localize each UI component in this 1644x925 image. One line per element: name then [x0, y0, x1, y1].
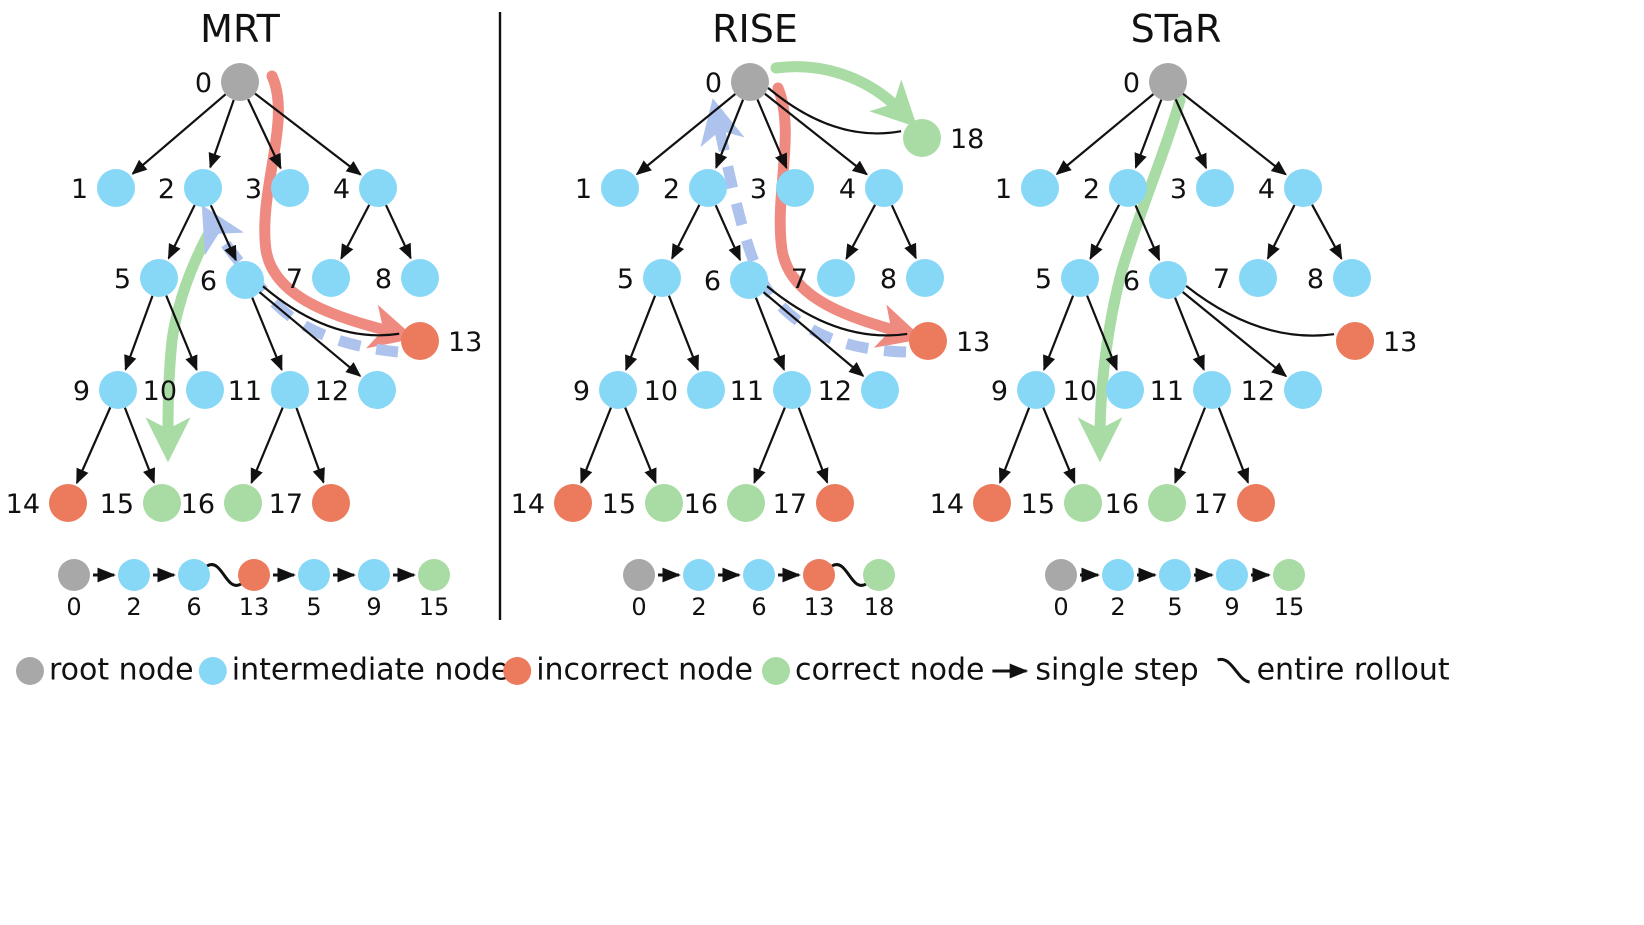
seq-node-circle-correct[interactable] — [863, 559, 895, 591]
node-mrt-7[interactable]: 7 — [286, 259, 350, 297]
node-label-10: 10 — [644, 376, 678, 407]
panel-title-star: STaR — [1131, 7, 1222, 51]
seq-node-mrt-6[interactable]: 6 — [178, 559, 210, 621]
node-star-0[interactable]: 0 — [1123, 63, 1187, 101]
node-rise-11[interactable]: 11 — [730, 371, 811, 409]
node-circle-intermediate[interactable] — [271, 371, 309, 409]
node-circle-correct[interactable] — [727, 484, 765, 522]
legend-label: correct node — [795, 653, 984, 688]
node-label-9: 9 — [73, 376, 90, 407]
seq-node-label-5: 5 — [306, 593, 321, 621]
node-circle-intermediate[interactable] — [1284, 371, 1322, 409]
rise-rollouts — [718, 67, 906, 352]
seq-node-circle-intermediate[interactable] — [683, 559, 715, 591]
panel-title-mrt: MRT — [200, 7, 280, 51]
legend-item-entire-rollout: entire rollout — [1218, 653, 1450, 688]
node-label-10: 10 — [143, 376, 177, 407]
node-circle-intermediate[interactable] — [817, 259, 855, 297]
node-circle-intermediate[interactable] — [186, 371, 224, 409]
edge-2-5 — [1090, 205, 1119, 259]
edge-0-2 — [210, 100, 233, 167]
panel-title-rise: RISE — [712, 7, 798, 51]
seq-node-circle-root[interactable] — [58, 559, 90, 591]
node-mrt-16[interactable]: 16 — [181, 484, 262, 522]
node-circle-root[interactable] — [221, 63, 259, 101]
node-mrt-12[interactable]: 12 — [315, 371, 396, 409]
node-circle-intermediate[interactable] — [773, 371, 811, 409]
legend-label: entire rollout — [1257, 653, 1450, 688]
node-mrt-15[interactable]: 15 — [100, 484, 181, 522]
edge-4-8 — [892, 205, 916, 258]
seq-node-circle-intermediate[interactable] — [1159, 559, 1191, 591]
node-star-11[interactable]: 11 — [1150, 371, 1231, 409]
sequence-star: 025915 — [1045, 559, 1305, 621]
node-circle-intermediate[interactable] — [601, 169, 639, 207]
node-label-2: 2 — [663, 174, 680, 205]
seq-node-star-5[interactable]: 5 — [1159, 559, 1191, 621]
seq-node-rise-13[interactable]: 13 — [803, 559, 835, 621]
node-label-17: 17 — [773, 489, 807, 520]
seq-node-star-15[interactable]: 15 — [1273, 559, 1305, 621]
seq-node-circle-intermediate[interactable] — [118, 559, 150, 591]
node-label-4: 4 — [1258, 174, 1275, 205]
seq-entire-rollout-mrt-2 — [207, 565, 241, 586]
node-circle-intermediate[interactable] — [643, 259, 681, 297]
node-label-2: 2 — [158, 174, 175, 205]
node-circle-correct[interactable] — [903, 119, 941, 157]
edge-0-4 — [1183, 94, 1286, 175]
node-star-4[interactable]: 4 — [1258, 169, 1322, 207]
edge-2-5 — [169, 205, 195, 258]
node-label-8: 8 — [1307, 264, 1324, 295]
node-rise-10[interactable]: 10 — [644, 371, 725, 409]
node-mrt-13[interactable]: 13 — [401, 322, 482, 360]
node-rise-12[interactable]: 12 — [818, 371, 899, 409]
node-rise-0[interactable]: 0 — [705, 63, 769, 101]
node-circle-incorrect[interactable] — [1237, 484, 1275, 522]
node-circle-intermediate[interactable] — [1284, 169, 1322, 207]
node-rise-7[interactable]: 7 — [791, 259, 855, 297]
node-circle-incorrect[interactable] — [973, 484, 1011, 522]
legend-label: single step — [1035, 653, 1198, 688]
node-mrt-17[interactable]: 17 — [269, 484, 350, 522]
seq-node-circle-root[interactable] — [1045, 559, 1077, 591]
node-star-15[interactable]: 15 — [1021, 484, 1102, 522]
node-circle-intermediate[interactable] — [1196, 169, 1234, 207]
edge-4-7 — [341, 205, 369, 259]
edge-9-15 — [625, 408, 656, 483]
seq-node-label-0: 0 — [631, 593, 646, 621]
node-mrt-6[interactable]: 6 — [200, 261, 264, 299]
node-label-16: 16 — [684, 489, 718, 520]
tree-rise: 0181234567813910111214151617 — [511, 63, 991, 522]
legend: root nodeintermediate nodeincorrect node… — [16, 653, 1450, 688]
node-circle-intermediate[interactable] — [865, 169, 903, 207]
seq-node-mrt-15[interactable]: 15 — [418, 559, 450, 621]
figure-canvas: MRT RISE STaR 01234567813910111214151617… — [0, 0, 1644, 925]
node-circle-intermediate[interactable] — [359, 169, 397, 207]
edge-6-11 — [1175, 298, 1204, 370]
node-mrt-11[interactable]: 11 — [228, 371, 309, 409]
edge-9-15 — [125, 408, 154, 483]
seq-node-rise-0[interactable]: 0 — [623, 559, 655, 621]
edge-4-7 — [1268, 205, 1295, 258]
node-label-13: 13 — [956, 327, 990, 358]
seq-entire-rollout-rise-3 — [832, 565, 866, 586]
edge-11-16 — [754, 408, 785, 483]
node-mrt-0[interactable]: 0 — [195, 63, 259, 101]
node-star-7[interactable]: 7 — [1213, 259, 1277, 297]
seq-node-label-0: 0 — [66, 593, 81, 621]
node-circle-correct[interactable] — [645, 484, 683, 522]
node-label-7: 7 — [1213, 264, 1230, 295]
seq-node-label-2: 2 — [126, 593, 141, 621]
seq-node-star-2[interactable]: 2 — [1102, 559, 1134, 621]
node-label-17: 17 — [1194, 489, 1228, 520]
edge-11-17 — [1219, 408, 1248, 483]
node-label-3: 3 — [750, 174, 767, 205]
node-circle-intermediate[interactable] — [599, 371, 637, 409]
seq-node-circle-intermediate[interactable] — [298, 559, 330, 591]
node-circle-correct[interactable] — [1148, 484, 1186, 522]
legend-item-intermediate-node: intermediate node — [199, 653, 509, 688]
tree-mrt: 01234567813910111214151617 — [6, 63, 483, 522]
node-circle-correct[interactable] — [224, 484, 262, 522]
node-star-2[interactable]: 2 — [1083, 169, 1147, 207]
node-circle-incorrect[interactable] — [312, 484, 350, 522]
edge-11-16 — [251, 408, 282, 483]
node-label-4: 4 — [333, 174, 350, 205]
sequence-mrt: 026135915 — [58, 559, 450, 621]
node-label-8: 8 — [375, 264, 392, 295]
node-star-3[interactable]: 3 — [1170, 169, 1234, 207]
edge-6-12 — [764, 292, 864, 376]
node-circle-intermediate[interactable] — [401, 259, 439, 297]
seq-node-mrt-0[interactable]: 0 — [58, 559, 90, 621]
seq-node-label-13: 13 — [239, 593, 270, 621]
node-label-12: 12 — [315, 376, 349, 407]
node-label-15: 15 — [100, 489, 134, 520]
node-circle-intermediate[interactable] — [687, 371, 725, 409]
seq-node-mrt-5[interactable]: 5 — [298, 559, 330, 621]
node-mrt-5[interactable]: 5 — [114, 259, 178, 297]
node-rise-1[interactable]: 1 — [575, 169, 639, 207]
edge-5-9 — [1044, 296, 1073, 370]
node-label-0: 0 — [1123, 68, 1140, 99]
node-label-5: 5 — [617, 264, 634, 295]
seq-node-label-0: 0 — [1053, 593, 1068, 621]
node-circle-intermediate[interactable] — [1239, 259, 1277, 297]
node-label-2: 2 — [1083, 174, 1100, 205]
legend-marker-squiggle — [1218, 659, 1250, 682]
node-mrt-2[interactable]: 2 — [158, 169, 222, 207]
edge-11-17 — [296, 408, 323, 482]
node-circle-intermediate[interactable] — [140, 259, 178, 297]
node-rise-18[interactable]: 18 — [903, 119, 984, 157]
rollout-sequences: 0261359150261318025915 — [58, 559, 1305, 621]
node-label-0: 0 — [705, 68, 722, 99]
node-label-6: 6 — [200, 266, 217, 297]
seq-node-label-6: 6 — [751, 593, 766, 621]
legend-marker-circle — [503, 657, 531, 685]
seq-node-circle-intermediate[interactable] — [743, 559, 775, 591]
node-label-16: 16 — [1105, 489, 1139, 520]
node-label-13: 13 — [448, 327, 482, 358]
tree-graphs: 0123456781391011121415161701812345678139… — [6, 63, 1418, 522]
node-circle-root[interactable] — [731, 63, 769, 101]
nodes-mrt: 01234567813910111214151617 — [6, 63, 483, 522]
legend-label: intermediate node — [232, 653, 509, 688]
legend-marker-circle — [762, 657, 790, 685]
seq-node-circle-incorrect[interactable] — [803, 559, 835, 591]
node-circle-incorrect[interactable] — [401, 322, 439, 360]
seq-node-label-6: 6 — [186, 593, 201, 621]
seq-node-circle-root[interactable] — [623, 559, 655, 591]
node-circle-intermediate[interactable] — [312, 259, 350, 297]
node-rise-9[interactable]: 9 — [573, 371, 637, 409]
seq-node-star-9[interactable]: 9 — [1216, 559, 1248, 621]
seq-node-mrt-13[interactable]: 13 — [238, 559, 270, 621]
seq-node-label-13: 13 — [804, 593, 835, 621]
seq-node-circle-correct[interactable] — [418, 559, 450, 591]
seq-node-rise-18[interactable]: 18 — [863, 559, 895, 621]
node-circle-intermediate[interactable] — [1149, 261, 1187, 299]
node-label-1: 1 — [575, 174, 592, 205]
node-circle-intermediate[interactable] — [97, 169, 135, 207]
node-circle-intermediate[interactable] — [1017, 371, 1055, 409]
rise-green-rollout — [776, 67, 900, 110]
seq-node-mrt-9[interactable]: 9 — [358, 559, 390, 621]
seq-node-label-2: 2 — [691, 593, 706, 621]
node-star-16[interactable]: 16 — [1105, 484, 1186, 522]
seq-node-circle-incorrect[interactable] — [238, 559, 270, 591]
edge-11-17 — [799, 408, 827, 483]
node-mrt-4[interactable]: 4 — [333, 169, 397, 207]
edge-4-8 — [386, 205, 411, 258]
node-mrt-10[interactable]: 10 — [143, 371, 224, 409]
node-circle-incorrect[interactable] — [49, 484, 87, 522]
node-rise-4[interactable]: 4 — [839, 169, 903, 207]
node-rise-5[interactable]: 5 — [617, 259, 681, 297]
node-star-6[interactable]: 6 — [1123, 261, 1187, 299]
node-label-6: 6 — [1123, 266, 1140, 297]
seq-node-circle-correct[interactable] — [1273, 559, 1305, 591]
node-label-17: 17 — [269, 489, 303, 520]
node-rise-6[interactable]: 6 — [704, 261, 768, 299]
node-circle-intermediate[interactable] — [1109, 169, 1147, 207]
seq-node-circle-intermediate[interactable] — [178, 559, 210, 591]
node-label-12: 12 — [1241, 376, 1275, 407]
node-star-17[interactable]: 17 — [1194, 484, 1275, 522]
node-circle-correct[interactable] — [1064, 484, 1102, 522]
node-rise-15[interactable]: 15 — [602, 484, 683, 522]
node-rise-8[interactable]: 8 — [880, 259, 944, 297]
node-rise-3[interactable]: 3 — [750, 169, 814, 207]
node-circle-intermediate[interactable] — [730, 261, 768, 299]
node-label-15: 15 — [1021, 489, 1055, 520]
legend-marker-circle — [16, 657, 44, 685]
node-rise-13[interactable]: 13 — [909, 322, 990, 360]
node-circle-root[interactable] — [1149, 63, 1187, 101]
edge-5-9 — [126, 296, 153, 369]
diagram-svg: MRT RISE STaR 01234567813910111214151617… — [0, 0, 1644, 925]
edge-5-9 — [626, 296, 655, 370]
node-circle-intermediate[interactable] — [1061, 259, 1099, 297]
seq-node-rise-6[interactable]: 6 — [743, 559, 775, 621]
panel-titles: MRT RISE STaR — [200, 7, 1221, 51]
node-circle-intermediate[interactable] — [1021, 169, 1059, 207]
edge-9-14 — [1000, 408, 1029, 483]
node-circle-incorrect[interactable] — [1336, 322, 1374, 360]
node-label-11: 11 — [1150, 376, 1184, 407]
node-mrt-1[interactable]: 1 — [71, 169, 135, 207]
node-label-16: 16 — [181, 489, 215, 520]
node-circle-intermediate[interactable] — [184, 169, 222, 207]
seq-node-label-15: 15 — [419, 593, 450, 621]
node-label-6: 6 — [704, 266, 721, 297]
seq-node-label-2: 2 — [1110, 593, 1125, 621]
node-label-1: 1 — [995, 174, 1012, 205]
node-label-11: 11 — [228, 376, 262, 407]
edge-9-14 — [77, 407, 110, 483]
edge-2-5 — [672, 205, 699, 258]
node-label-18: 18 — [950, 124, 984, 155]
node-label-14: 14 — [511, 489, 545, 520]
node-circle-incorrect[interactable] — [909, 322, 947, 360]
node-circle-intermediate[interactable] — [861, 371, 899, 409]
node-label-15: 15 — [602, 489, 636, 520]
node-label-9: 9 — [573, 376, 590, 407]
legend-item-incorrect-node: incorrect node — [503, 653, 753, 688]
edge-5-10 — [669, 296, 698, 370]
node-circle-intermediate[interactable] — [1106, 371, 1144, 409]
node-label-7: 7 — [791, 264, 808, 295]
legend-item-single-step: single step — [992, 653, 1198, 688]
edge-11-16 — [1175, 408, 1205, 483]
node-label-5: 5 — [114, 264, 131, 295]
node-star-1[interactable]: 1 — [995, 169, 1059, 207]
seq-node-label-9: 9 — [1224, 593, 1239, 621]
node-mrt-9[interactable]: 9 — [73, 371, 137, 409]
node-label-10: 10 — [1063, 376, 1097, 407]
legend-item-correct-node: correct node — [762, 653, 984, 688]
node-circle-incorrect[interactable] — [816, 484, 854, 522]
node-rise-17[interactable]: 17 — [773, 484, 854, 522]
node-label-7: 7 — [286, 264, 303, 295]
node-star-14[interactable]: 14 — [930, 484, 1011, 522]
node-circle-intermediate[interactable] — [358, 371, 396, 409]
seq-node-mrt-2[interactable]: 2 — [118, 559, 150, 621]
node-label-5: 5 — [1035, 264, 1052, 295]
edge-4-7 — [846, 205, 875, 259]
node-rise-16[interactable]: 16 — [684, 484, 765, 522]
legend-marker-circle — [199, 657, 227, 685]
nodes-rise: 0181234567813910111214151617 — [511, 63, 991, 522]
node-circle-correct[interactable] — [143, 484, 181, 522]
node-rise-2[interactable]: 2 — [663, 169, 727, 207]
seq-node-circle-intermediate[interactable] — [1102, 559, 1134, 591]
node-circle-incorrect[interactable] — [554, 484, 592, 522]
seq-node-rise-2[interactable]: 2 — [683, 559, 715, 621]
node-star-13[interactable]: 13 — [1336, 322, 1417, 360]
seq-node-label-18: 18 — [864, 593, 895, 621]
node-circle-intermediate[interactable] — [271, 169, 309, 207]
seq-node-star-0[interactable]: 0 — [1045, 559, 1077, 621]
node-star-5[interactable]: 5 — [1035, 259, 1099, 297]
node-circle-intermediate[interactable] — [99, 371, 137, 409]
legend-label: incorrect node — [536, 653, 753, 688]
seq-node-label-15: 15 — [1274, 593, 1305, 621]
sequence-rise: 0261318 — [623, 559, 895, 621]
node-label-0: 0 — [195, 68, 212, 99]
node-circle-intermediate[interactable] — [776, 169, 814, 207]
node-circle-intermediate[interactable] — [1193, 371, 1231, 409]
node-mrt-14[interactable]: 14 — [6, 484, 87, 522]
node-star-9[interactable]: 9 — [991, 371, 1055, 409]
node-mrt-3[interactable]: 3 — [245, 169, 309, 207]
node-label-12: 12 — [818, 376, 852, 407]
node-circle-intermediate[interactable] — [689, 169, 727, 207]
seq-node-circle-intermediate[interactable] — [358, 559, 390, 591]
legend-item-root-node: root node — [16, 653, 194, 688]
node-circle-intermediate[interactable] — [1333, 259, 1371, 297]
edge-9-15 — [1043, 408, 1074, 483]
node-label-9: 9 — [991, 376, 1008, 407]
seq-node-label-9: 9 — [366, 593, 381, 621]
node-circle-intermediate[interactable] — [226, 261, 264, 299]
node-label-3: 3 — [1170, 174, 1187, 205]
node-label-1: 1 — [71, 174, 88, 205]
seq-node-circle-intermediate[interactable] — [1216, 559, 1248, 591]
node-mrt-8[interactable]: 8 — [375, 259, 439, 297]
node-rise-14[interactable]: 14 — [511, 484, 592, 522]
node-star-12[interactable]: 12 — [1241, 371, 1322, 409]
node-label-8: 8 — [880, 264, 897, 295]
node-label-3: 3 — [245, 174, 262, 205]
node-star-8[interactable]: 8 — [1307, 259, 1371, 297]
node-label-13: 13 — [1383, 327, 1417, 358]
node-label-14: 14 — [6, 489, 40, 520]
seq-node-label-5: 5 — [1167, 593, 1182, 621]
node-label-14: 14 — [930, 489, 964, 520]
legend-label: root node — [49, 653, 194, 688]
edge-4-8 — [1312, 205, 1341, 259]
edge-9-14 — [581, 408, 611, 483]
node-label-4: 4 — [839, 174, 856, 205]
node-circle-intermediate[interactable] — [906, 259, 944, 297]
edge-6-12 — [1183, 292, 1286, 376]
node-label-11: 11 — [730, 376, 764, 407]
